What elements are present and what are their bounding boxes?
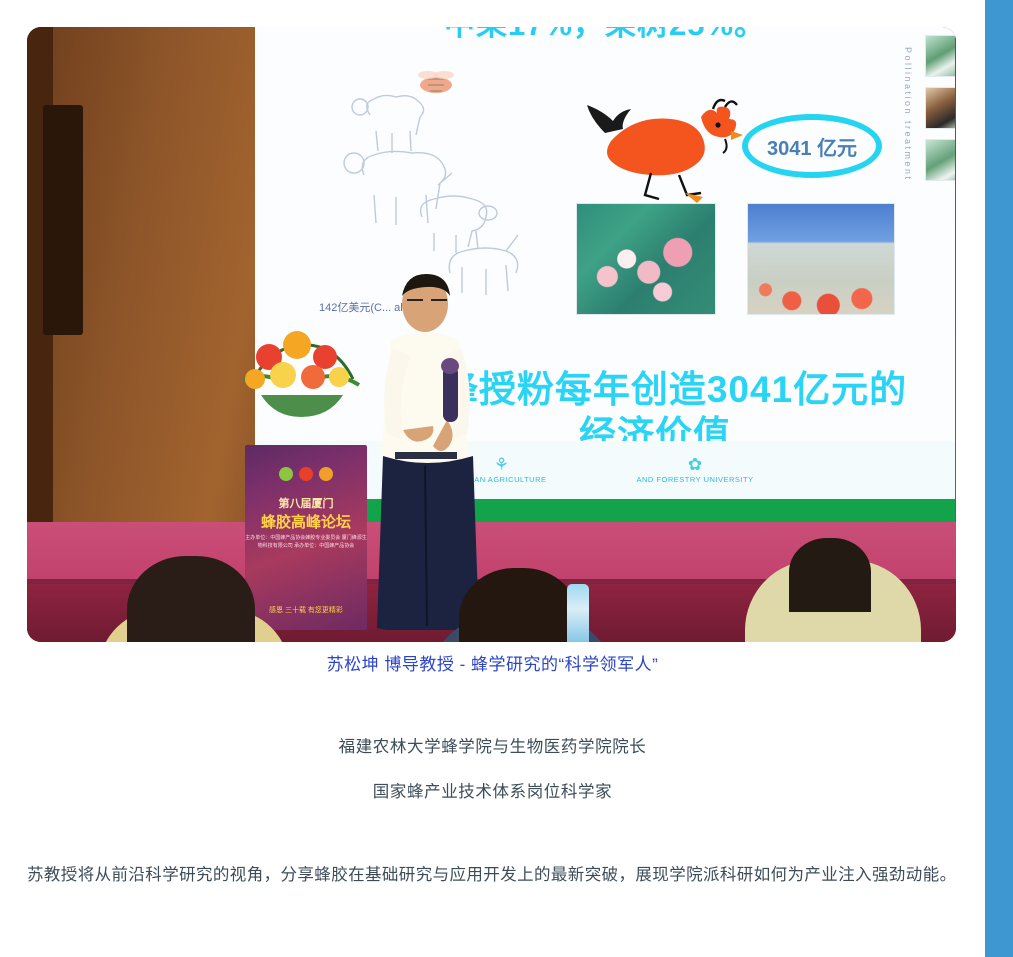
article-page: 中果17%，果树25%。 [0,0,1013,957]
podium-logo-green-icon [279,467,293,481]
speaker-person [367,270,487,630]
pollination-thumbnail-1 [925,35,955,77]
podium-banner: 第八届厦门 蜂胶高峰论坛 主办单位：中国蜂产品协会蜂胶专业委员会 厦门蜂源生物科… [245,445,367,630]
slide-top-text: 中果17%，果树25%。 [255,27,955,44]
value-badge-ellipse: 3041 亿元 [742,114,882,178]
rooster-illustration [575,75,765,205]
flower-icon: ⚘ [494,456,509,473]
value-badge-text: 3041 亿元 [767,132,857,161]
audience-member-3-head [789,538,871,612]
podium-title-line1: 第八届厦门 [245,495,367,511]
loudspeaker [43,105,83,335]
slide-logo-2-text: AND FORESTRY UNIVERSITY [637,475,754,484]
credential-line-2: 国家蜂产业技术体系岗位科学家 [0,778,985,802]
flower-arrangement [239,327,367,452]
credential-line-1: 福建农林大学蜂学院与生物医药学院院长 [0,733,985,757]
podium-subtitle: 主办单位：中国蜂产品协会蜂胶专业委员会 厦门蜂源生物科技有限公司 承办单位：中国… [245,535,367,550]
slide-photo-fruit-field [747,203,895,315]
right-accent-bar [985,0,1013,957]
photo-caption: 苏松坤 博导教授 - 蜂学研究的“科学领军人” [0,650,985,675]
slide-logo-2: ✿ AND FORESTRY UNIVERSITY [637,456,754,484]
podium-logo-red-icon [299,467,313,481]
conference-presentation-photo: 中果17%，果树25%。 [27,27,956,642]
pollination-treatment-group: Pollination treatment [903,27,955,325]
pollination-thumbnail-3 [925,139,955,181]
pollination-thumbnail-2 [925,87,955,129]
blossom-icon: ✿ [688,456,702,473]
podium-logo-row [245,467,367,481]
podium-logo-gold-icon [319,467,333,481]
body-paragraph: 苏教授将从前沿科学研究的视角，分享蜂胶在基础研究与应用开发上的最新突破，展现学院… [27,858,957,893]
podium-title-line2: 蜂胶高峰论坛 [245,511,367,532]
water-bottle [567,584,589,642]
podium-footer-text: 感恩 三十载 有您更精彩 [245,605,367,616]
slide-photo-peach-tree [576,203,716,315]
pollination-treatment-label: Pollination treatment [903,47,913,182]
